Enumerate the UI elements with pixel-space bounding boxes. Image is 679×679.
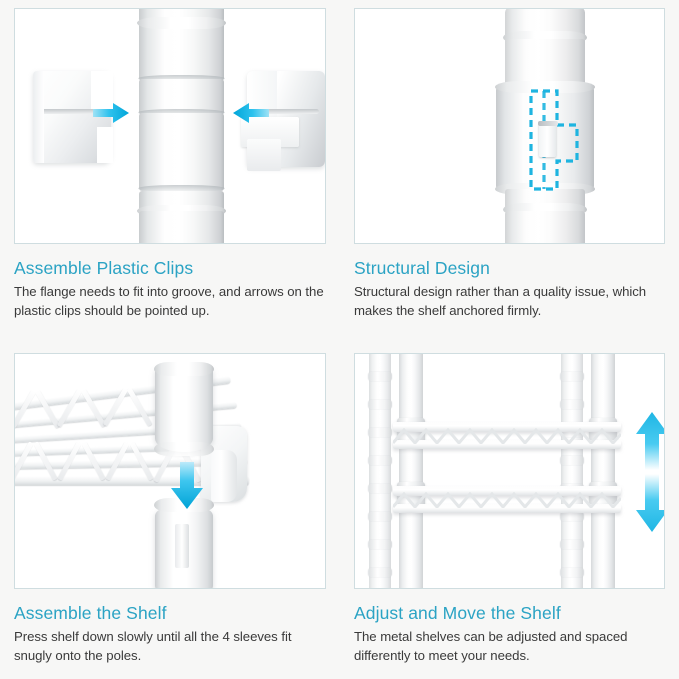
pole-segment-bottom xyxy=(139,211,224,244)
shelf-sleeve-upper xyxy=(155,368,213,452)
panel-title: Assemble the Shelf xyxy=(14,603,326,624)
arrow-left-icon xyxy=(233,102,269,124)
figure-assemble-plastic-clips xyxy=(14,8,326,244)
caption-assemble-the-shelf: Assemble the Shelf Press shelf down slow… xyxy=(14,589,326,665)
panel-assemble-plastic-clips: Assemble Plastic Clips The flange needs … xyxy=(0,0,340,345)
panel-description: Press shelf down slowly until all the 4 … xyxy=(14,624,326,665)
rack-shelf-lower-truss xyxy=(393,492,621,508)
rack-pole-groove xyxy=(560,540,584,549)
arrow-right-icon xyxy=(93,102,129,124)
instruction-grid: Assemble Plastic Clips The flange needs … xyxy=(0,0,679,679)
rack-pole-groove xyxy=(368,400,392,409)
plastic-clip-left-edge xyxy=(33,71,44,163)
plastic-clip-left-notch-bottom xyxy=(97,127,113,163)
caption-adjust-and-move-the-shelf: Adjust and Move the Shelf The metal shel… xyxy=(354,589,665,665)
rack-pole-groove xyxy=(560,456,584,465)
panel-adjust-and-move-the-shelf: Adjust and Move the Shelf The metal shel… xyxy=(340,345,679,679)
rack-pole-groove xyxy=(560,372,584,381)
rack-pole-back-right xyxy=(561,353,583,589)
pole-segment-lower xyxy=(139,113,224,191)
sleeve-tab-lip xyxy=(538,121,558,126)
caption-structural-design: Structural Design Structural design rath… xyxy=(354,244,665,320)
panel-title: Assemble Plastic Clips xyxy=(14,258,326,279)
shelf-bracket-sleeve xyxy=(211,450,237,502)
sleeve-locking-tab xyxy=(539,123,556,157)
panel-title: Structural Design xyxy=(354,258,665,279)
figure-adjust-and-move-the-shelf xyxy=(354,353,665,589)
sleeve-upper-rim xyxy=(154,362,214,376)
sleeve-upper-base xyxy=(154,442,214,456)
rack-pole-groove xyxy=(368,372,392,381)
figure-assemble-the-shelf xyxy=(14,353,326,589)
figure-structural-design xyxy=(354,8,665,244)
rack-pole-groove xyxy=(368,568,392,577)
panel-assemble-the-shelf: Assemble the Shelf Press shelf down slow… xyxy=(0,345,340,679)
rack-pole-groove xyxy=(560,400,584,409)
rack-pole-groove xyxy=(368,540,392,549)
rack-pole-groove xyxy=(368,456,392,465)
arrow-up-down-icon xyxy=(635,412,665,532)
pole-segment-upper xyxy=(139,21,224,81)
pole-bottom xyxy=(505,211,585,244)
rack-pole-groove xyxy=(560,568,584,577)
rack-pole-groove xyxy=(368,428,392,437)
rack-pole-groove xyxy=(560,512,584,521)
panel-structural-design: Structural Design Structural design rath… xyxy=(340,0,679,345)
rack-pole-groove xyxy=(368,484,392,493)
plastic-clip-right-tab-lower xyxy=(247,139,281,171)
arrow-down-icon xyxy=(170,462,204,510)
rack-pole-back-left xyxy=(369,353,391,589)
caption-assemble-plastic-clips: Assemble Plastic Clips The flange needs … xyxy=(14,244,326,320)
panel-title: Adjust and Move the Shelf xyxy=(354,603,665,624)
rack-shelf-upper-truss xyxy=(393,428,621,444)
panel-description: The metal shelves can be adjusted and sp… xyxy=(354,624,665,665)
rack-pole-front-right xyxy=(591,353,615,589)
rack-pole-groove xyxy=(368,512,392,521)
pole-ring-1 xyxy=(137,17,226,29)
rack-pole-front-left xyxy=(399,353,423,589)
panel-description: The flange needs to fit into groove, and… xyxy=(14,279,326,320)
sleeve-lower-seam xyxy=(175,524,189,568)
panel-description: Structural design rather than a quality … xyxy=(354,279,665,320)
